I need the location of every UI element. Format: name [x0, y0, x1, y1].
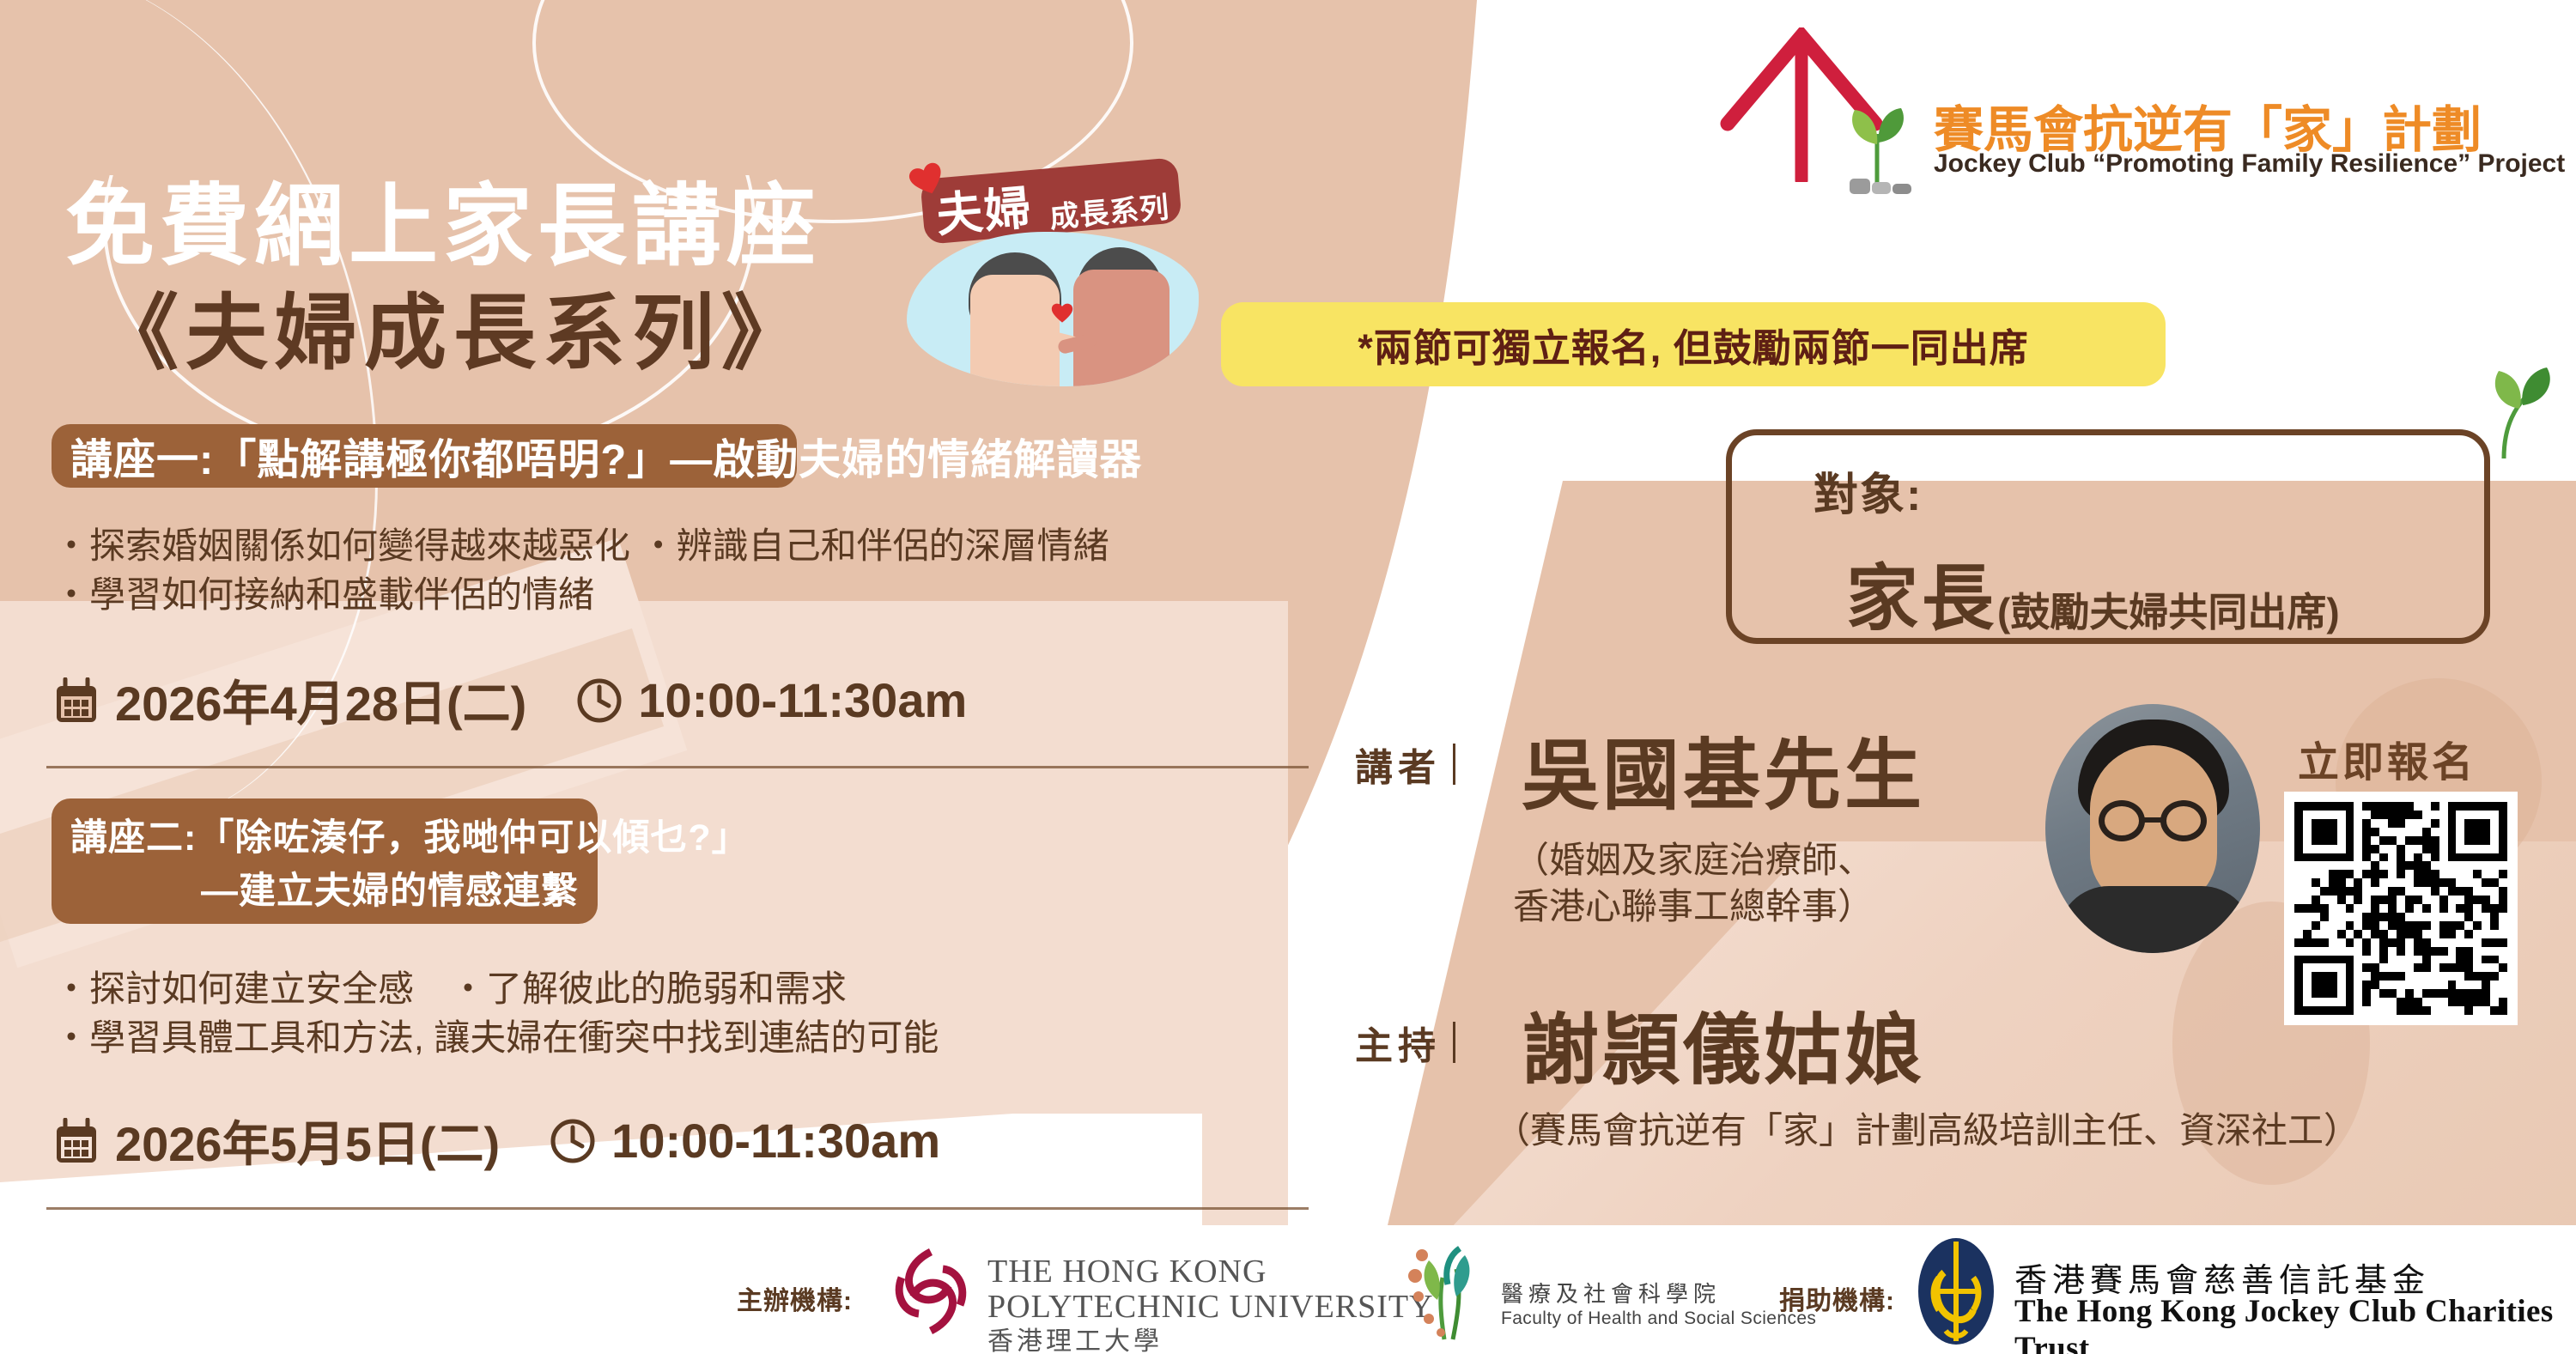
- session-2-title-line-2: —建立夫婦的情感連繫: [201, 861, 579, 914]
- clock-icon: [550, 1118, 596, 1164]
- host-name: 謝頴儀姑娘: [1522, 987, 1925, 1099]
- session-1-bullets: ・探索婚姻關係如何變得越來越惡化 ・辨識自己和伴侶的深層情緒 ・學習如何接納和盛…: [53, 522, 1599, 619]
- session-2-date: 2026年5月5日(二): [115, 1106, 500, 1175]
- speaker-role-text: 講者: [1355, 737, 1441, 792]
- page-subtitle: 《夫婦成長系列》: [96, 266, 811, 386]
- fhss-name-zh: 醫療及社會科學院: [1501, 1277, 1721, 1308]
- session-2-bullets: ・探討如何建立安全感 ・了解彼此的脆弱和需求 ・學習具體工具和方法, 讓夫婦在衝…: [53, 965, 1427, 1062]
- sprout-icon: [1829, 100, 1932, 194]
- divider-1: [46, 766, 1309, 768]
- small-heart-icon: [1051, 302, 1073, 325]
- speaker-avatar: [2045, 704, 2260, 953]
- session-1-datetime: 2026年4月28日(二) 10:00-11:30am: [53, 665, 967, 735]
- session-1-bullet-2: ・學習如何接納和盛載伴侶的情緒: [53, 571, 1599, 620]
- couple-series-badge: 夫婦 成長系列: [891, 160, 1209, 392]
- session-2-bullet-1: ・探討如何建立安全感 ・了解彼此的脆弱和需求: [53, 965, 1427, 1014]
- funder-label: 捐助機構:: [1779, 1279, 1895, 1317]
- session-2-bullet-2: ・學習具體工具和方法, 讓夫婦在衝突中找到連結的可能: [53, 1014, 1427, 1063]
- couple-illustration: [907, 232, 1199, 386]
- audience-label: 對象:: [1814, 458, 1923, 523]
- session-1-bullet-1: ・探索婚姻關係如何變得越來越惡化 ・辨識自己和伴侶的深層情緒: [53, 522, 1599, 571]
- fhss-logo-icon: [1400, 1243, 1494, 1342]
- audience-value: 家長 (鼓勵夫婦共同出席): [1846, 541, 2340, 645]
- qr-grid: [2294, 802, 2507, 1015]
- registration-note-text: *兩節可獨立報名, 但鼓勵兩節一同出席: [1358, 317, 2029, 373]
- speaker-title-line-2: 香港心聯事工總幹事）: [1513, 883, 1874, 930]
- fhss-name-en: Faculty of Health and Social Sciences: [1501, 1308, 1816, 1329]
- session-1-title: 講座一:「點解講極你都唔明?」—啟動夫婦的情緒解讀器: [70, 426, 1142, 487]
- speaker-title-line-1: （婚姻及家庭治療師、: [1513, 837, 1874, 883]
- audience-value-main: 家長: [1846, 541, 1997, 645]
- hkjc-name-en: The Hong Kong Jockey Club Charities Trus…: [2014, 1293, 2576, 1354]
- host-role-label: 主持: [1355, 1015, 1455, 1070]
- poster-root: 免費網上家長講座 《夫婦成長系列》 夫婦 成長系列: [0, 0, 2576, 1354]
- audience-value-note: (鼓勵夫婦共同出席): [1997, 581, 2340, 645]
- registration-note: *兩節可獨立報名, 但鼓勵兩節一同出席: [1221, 302, 2166, 386]
- registration-qr-code[interactable]: [2284, 792, 2518, 1025]
- avatar-glasses-left: [2099, 800, 2145, 841]
- project-logo-en: Jockey Club “Promoting Family Resilience…: [1934, 149, 2565, 179]
- polyu-name-line-1: THE HONG KONG: [987, 1253, 1267, 1290]
- clock-icon: [576, 677, 623, 724]
- host-role-text: 主持: [1355, 1015, 1441, 1070]
- session-1-time: 10:00-11:30am: [638, 672, 967, 728]
- calendar-icon: [53, 1118, 100, 1164]
- hkjc-logo-icon: [1913, 1236, 1999, 1346]
- avatar-body: [2057, 886, 2253, 953]
- divider-2: [46, 1207, 1309, 1210]
- session-2-title-line-1: 講座二:「除咗湊仔，我哋仲可以傾乜?」: [70, 808, 750, 861]
- organiser-label: 主辦機構:: [737, 1279, 853, 1317]
- session-1-title-bar: 講座一:「點解講極你都唔明?」—啟動夫婦的情緒解讀器: [52, 424, 797, 488]
- speaker-role-label: 講者: [1355, 737, 1455, 792]
- polyu-name-zh: 香港理工大學: [987, 1320, 1163, 1354]
- host-title: （賽馬會抗逆有「家」計劃高級培訓主任、資深社工）: [1494, 1108, 2360, 1154]
- session-1-date: 2026年4月28日(二): [115, 665, 526, 735]
- speaker-name: 吳國基先生: [1522, 713, 1925, 824]
- session-2-title-bar: 講座二:「除咗湊仔，我哋仲可以傾乜?」 —建立夫婦的情感連繫: [52, 798, 598, 924]
- avatar-glasses-right: [2160, 800, 2207, 841]
- session-2-time: 10:00-11:30am: [611, 1113, 940, 1169]
- page-title: 免費網上家長講座: [65, 153, 821, 282]
- session-2-datetime: 2026年5月5日(二) 10:00-11:30am: [53, 1106, 940, 1175]
- polyu-logo-icon: [884, 1245, 977, 1338]
- avatar-glasses-bridge: [2143, 817, 2164, 823]
- calendar-icon: [53, 677, 100, 724]
- qr-label: 立即報名: [2298, 728, 2476, 788]
- speaker-title: （婚姻及家庭治療師、 香港心聯事工總幹事）: [1513, 837, 1874, 930]
- illustration-man-body: [1073, 270, 1170, 386]
- project-logo: 賽馬會抗逆有「家」計劃 Jockey Club “Promoting Famil…: [1683, 22, 2559, 190]
